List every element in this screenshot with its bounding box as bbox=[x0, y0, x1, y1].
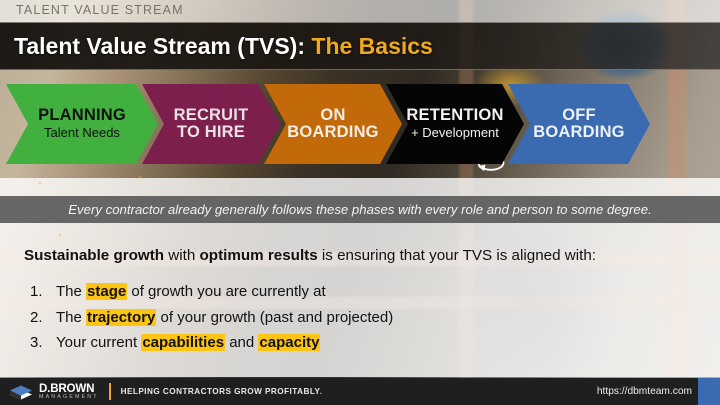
page-title: Talent Value Stream (TVS): The Basics bbox=[14, 33, 433, 60]
list-item-1-highlight-2: stage bbox=[86, 283, 127, 300]
process-stage-4-line1: RETENTION bbox=[406, 107, 503, 124]
process-stage-1-line2: Talent Needs bbox=[44, 126, 120, 141]
process-stage-3[interactable]: ONBOARDING bbox=[264, 84, 402, 164]
numbered-list: 1.The stage of growth you are currently … bbox=[30, 283, 590, 360]
lead-segment-3: optimum results bbox=[200, 247, 318, 264]
process-stage-4[interactable]: RETENTION+ Development bbox=[386, 84, 524, 164]
process-stage-5[interactable]: OFFBOARDING bbox=[508, 84, 650, 164]
process-stage-4-line2: + Development bbox=[411, 126, 499, 141]
footer-brand: D.BROWN MANAGEMENT HELPING CONTRACTORS G… bbox=[8, 383, 322, 401]
list-item-3-part-1: Your current bbox=[56, 334, 141, 351]
quote-text: Every contractor already generally follo… bbox=[68, 202, 652, 217]
process-stage-3-line2: BOARDING bbox=[287, 124, 378, 141]
list-item-2-part-1: The bbox=[56, 309, 86, 326]
footer-logo-words: D.BROWN MANAGEMENT bbox=[39, 383, 99, 401]
footer-logo-name: D.BROWN bbox=[39, 383, 99, 395]
list-item: 1.The stage of growth you are currently … bbox=[30, 283, 590, 300]
lead-segment-1: Sustainable growth bbox=[24, 247, 164, 264]
process-stage-3-line1: ON bbox=[320, 107, 345, 124]
title-band: Talent Value Stream (TVS): The Basics bbox=[0, 22, 720, 70]
footer-url[interactable]: https://dbmteam.com bbox=[597, 386, 692, 397]
stacked-layers-logo-icon bbox=[8, 383, 34, 401]
quote-strip: Every contractor already generally follo… bbox=[0, 196, 720, 223]
list-item-2-part-3: of your growth (past and projected) bbox=[156, 309, 393, 326]
list-item-3-text: Your current capabilities and capacity bbox=[56, 334, 320, 351]
footer-tagline: HELPING CONTRACTORS GROW PROFITABLY. bbox=[121, 387, 323, 396]
footer-tagline-dot: . bbox=[320, 387, 323, 396]
footer-logo-sub: MANAGEMENT bbox=[39, 395, 99, 400]
list-item-3-highlight-4: capacity bbox=[258, 334, 320, 351]
page-title-colon: : bbox=[297, 33, 305, 59]
page-title-accent: The Basics bbox=[311, 33, 432, 59]
list-item-1-text: The stage of growth you are currently at bbox=[56, 283, 326, 300]
list-item-1-part-3: of growth you are currently at bbox=[127, 283, 325, 300]
lead-segment-4: is ensuring that your TVS is aligned wit… bbox=[318, 247, 596, 264]
footer-tagline-text: HELPING CONTRACTORS GROW PROFITABLY bbox=[121, 387, 320, 396]
list-item-2-highlight-2: trajectory bbox=[86, 309, 156, 326]
list-item-2-text: The trajectory of your growth (past and … bbox=[56, 309, 393, 326]
list-item-1-part-1: The bbox=[56, 283, 86, 300]
list-item: 3.Your current capabilities and capacity bbox=[30, 334, 590, 351]
list-item-3-part-3: and bbox=[225, 334, 258, 351]
list-item: 2.The trajectory of your growth (past an… bbox=[30, 309, 590, 326]
lead-segment-2: with bbox=[164, 247, 199, 264]
list-item-2-number: 2. bbox=[30, 309, 56, 326]
page-title-main: Talent Value Stream (TVS) bbox=[14, 33, 297, 59]
process-stage-2[interactable]: RECRUITTO HIRE bbox=[142, 84, 280, 164]
lead-paragraph: Sustainable growth with optimum results … bbox=[24, 247, 596, 264]
list-item-1-number: 1. bbox=[30, 283, 56, 300]
process-chevron-row: PLANNINGTalent NeedsRECRUITTO HIREONBOAR… bbox=[6, 84, 714, 164]
slide-root: TALENT VALUE STREAM Talent Value Stream … bbox=[0, 0, 720, 405]
process-stage-1[interactable]: PLANNINGTalent Needs bbox=[6, 84, 158, 164]
footer-divider bbox=[109, 383, 111, 400]
process-stage-5-line1: OFF bbox=[562, 107, 596, 124]
process-stage-1-line1: PLANNING bbox=[38, 107, 126, 124]
footer-bar: D.BROWN MANAGEMENT HELPING CONTRACTORS G… bbox=[0, 378, 720, 405]
list-item-3-highlight-2: capabilities bbox=[141, 334, 225, 351]
process-stage-2-line1: RECRUIT bbox=[174, 107, 249, 124]
process-stage-5-line2: BOARDING bbox=[533, 124, 624, 141]
process-stage-2-line2: TO HIRE bbox=[177, 124, 245, 141]
eyebrow-label: TALENT VALUE STREAM bbox=[16, 3, 184, 17]
footer-accent-block bbox=[698, 378, 720, 405]
list-item-3-number: 3. bbox=[30, 334, 56, 351]
